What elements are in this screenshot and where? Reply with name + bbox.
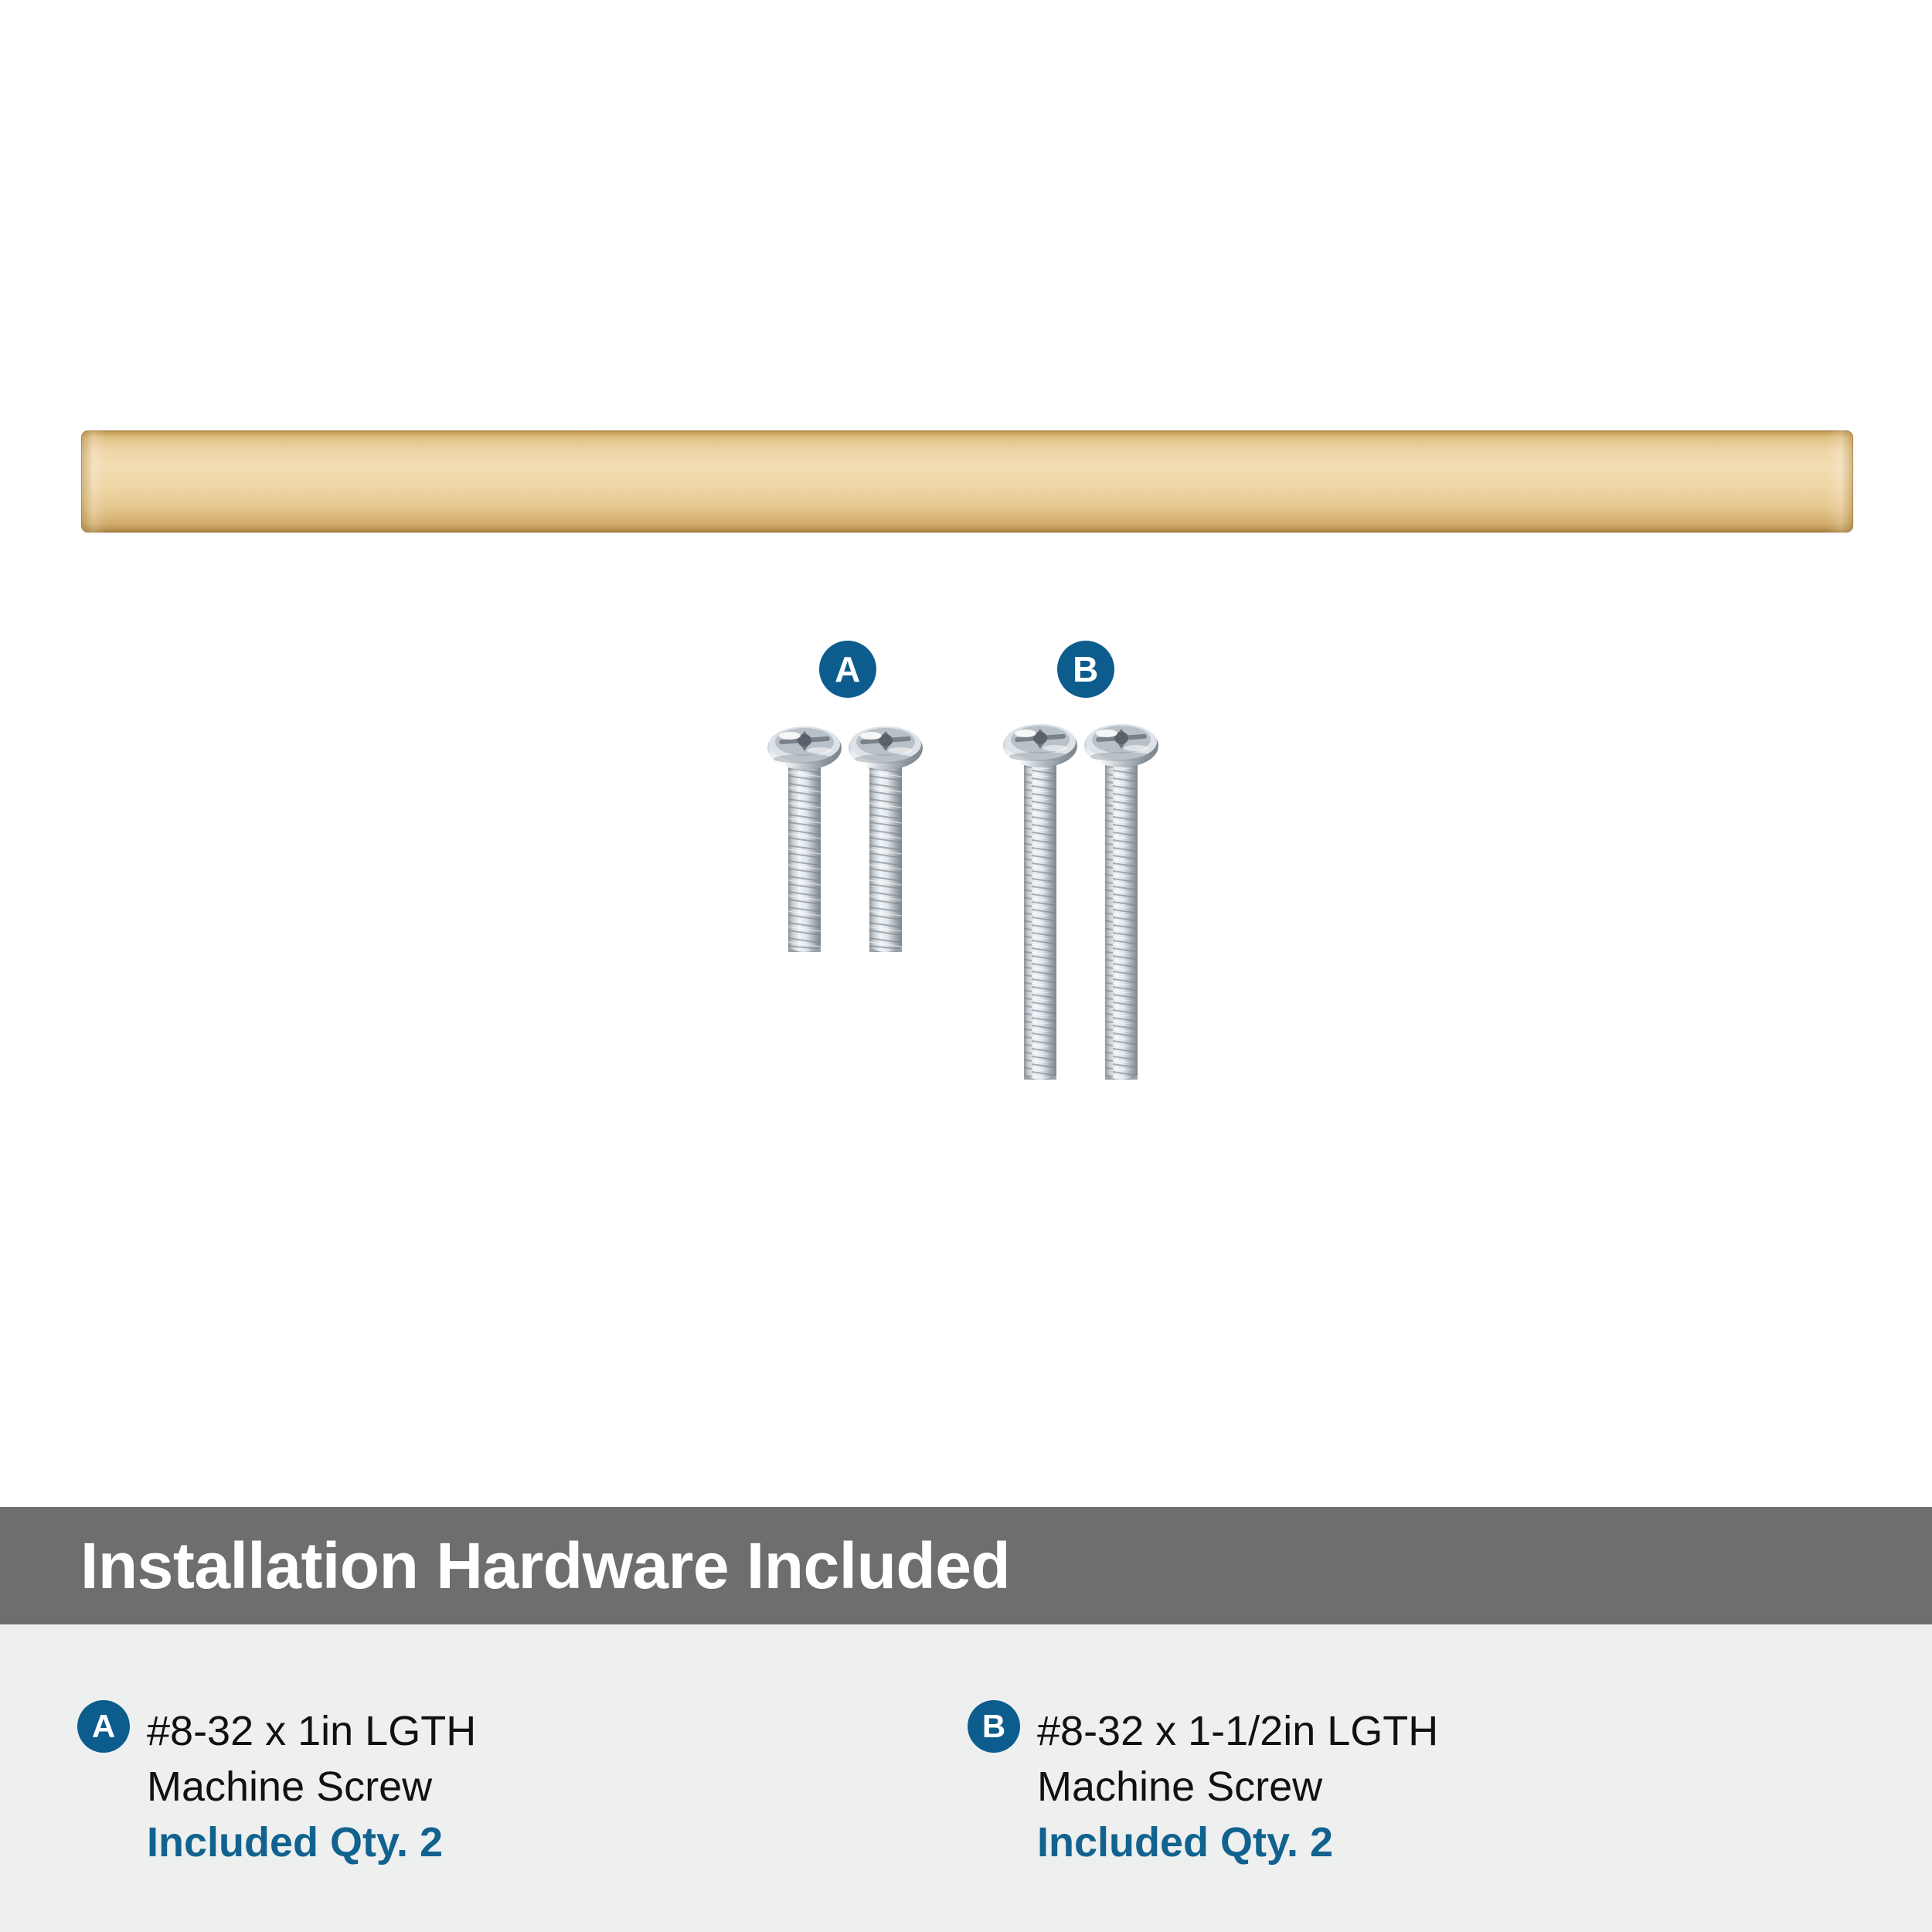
screw-b-1	[999, 723, 1081, 1084]
callout-badge-b: B	[1057, 641, 1114, 698]
legend-text-a: #8-32 x 1in LGTH Machine Screw Included …	[147, 1703, 476, 1870]
legend-text-b: #8-32 x 1-1/2in LGTH Machine Screw Inclu…	[1037, 1703, 1438, 1870]
screw-b-2	[1080, 723, 1162, 1084]
legend-spec-b: #8-32 x 1-1/2in LGTH	[1037, 1703, 1438, 1759]
legend-badge-b: B	[968, 1700, 1020, 1753]
legend-quantity-a: Included Qty. 2	[147, 1815, 476, 1870]
legend-spec-a: #8-32 x 1in LGTH	[147, 1703, 476, 1759]
legend-description-a: Machine Screw	[147, 1759, 476, 1815]
legend-description-b: Machine Screw	[1037, 1759, 1438, 1815]
legend-badge-a: A	[77, 1700, 130, 1753]
cabinet-bar-pull-handle	[81, 430, 1853, 532]
installation-hardware-banner: Installation Hardware Included	[0, 1507, 1932, 1624]
page-title: Installation Hardware Included	[80, 1533, 1010, 1598]
callout-badge-a: A	[819, 641, 876, 698]
screw-a-2	[845, 725, 927, 957]
legend-item-b: B #8-32 x 1-1/2in LGTH Machine Screw Inc…	[968, 1703, 1438, 1870]
screw-a-1	[764, 725, 845, 957]
legend-quantity-b: Included Qty. 2	[1037, 1815, 1438, 1870]
legend-item-a: A #8-32 x 1in LGTH Machine Screw Include…	[77, 1703, 476, 1870]
product-hardware-sheet: A B	[0, 0, 1932, 1932]
